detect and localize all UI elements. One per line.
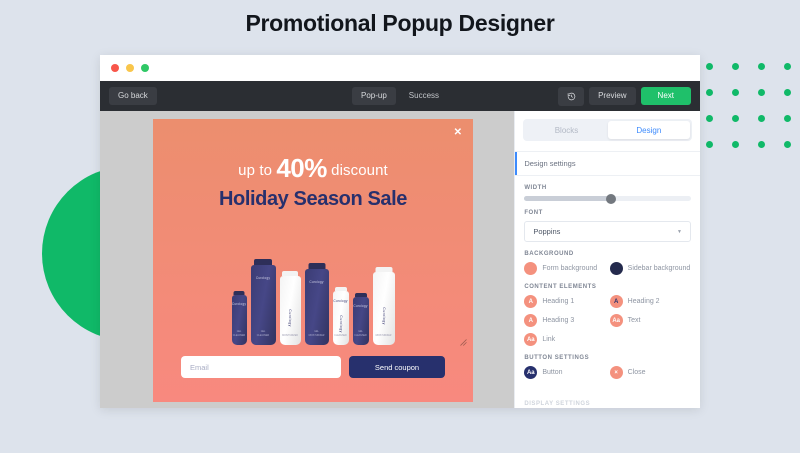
design-panel: Blocks Design Design settings WIDTH FONT… bbox=[514, 111, 700, 408]
panel-segmented-control: Blocks Design bbox=[523, 119, 692, 141]
design-settings-row[interactable]: Design settings bbox=[515, 151, 700, 176]
tab-design[interactable]: Design bbox=[608, 121, 690, 139]
tab-blocks[interactable]: Blocks bbox=[525, 121, 607, 139]
width-section-label: WIDTH bbox=[524, 185, 700, 191]
content-elements-section-label: CONTENT ELEMENTS bbox=[524, 284, 700, 290]
option-heading-2[interactable]: A Heading 2 bbox=[610, 295, 691, 308]
product-shelf-image: CurologyGELCLEANSERCurologyGELCLEANSERCu… bbox=[153, 223, 473, 345]
resize-handle-icon[interactable] bbox=[460, 339, 467, 346]
product-sub-label: MOISTURIZER bbox=[280, 335, 301, 338]
product-sub-label: CLEANSER bbox=[333, 335, 349, 338]
next-button[interactable]: Next bbox=[641, 87, 691, 105]
product-cap bbox=[234, 291, 245, 295]
content-elements-options: A Heading 1 A Heading 2 A Heading 3 Aa T… bbox=[524, 295, 691, 346]
grid-dot bbox=[784, 63, 791, 70]
option-heading-3[interactable]: A Heading 3 bbox=[524, 314, 605, 327]
option-label: Text bbox=[628, 317, 641, 324]
grid-dot bbox=[732, 115, 739, 122]
option-label: Form background bbox=[542, 265, 597, 272]
background-section-label: BACKGROUND bbox=[524, 251, 700, 257]
preview-button[interactable]: Preview bbox=[589, 87, 635, 105]
option-label: Button bbox=[542, 369, 562, 376]
option-close[interactable]: × Close bbox=[610, 366, 691, 379]
grid-dot bbox=[706, 141, 713, 148]
option-label: Sidebar background bbox=[628, 265, 691, 272]
product-bottle: CurologyGELCLEANSER bbox=[251, 259, 276, 345]
editor-body: ✕ up to 40% discount Holiday Season Sale… bbox=[100, 111, 700, 408]
promotional-popup: ✕ up to 40% discount Holiday Season Sale… bbox=[153, 119, 473, 402]
product-brand-label: Curology bbox=[288, 309, 292, 327]
product-brand-label: Curology bbox=[232, 302, 247, 306]
font-select[interactable]: Poppins ▼ bbox=[524, 221, 691, 242]
history-clock-icon bbox=[567, 92, 576, 101]
product-brand-label: Curology bbox=[382, 308, 386, 326]
product-body: CurologyGELCLEANSER bbox=[251, 265, 276, 345]
tab-success[interactable]: Success bbox=[400, 87, 448, 105]
popup-heading: Holiday Season Sale bbox=[153, 188, 473, 211]
grid-dot bbox=[758, 63, 765, 70]
product-sub-label: GELMOISTURIZER bbox=[305, 331, 329, 338]
product-cap bbox=[375, 267, 392, 272]
product-bottle: CurologyMOISTURIZER bbox=[373, 267, 395, 345]
option-sidebar-background[interactable]: Sidebar background bbox=[610, 262, 691, 275]
email-input[interactable]: Email bbox=[181, 356, 341, 378]
width-slider-thumb[interactable] bbox=[606, 194, 616, 204]
option-heading-1[interactable]: A Heading 1 bbox=[524, 295, 605, 308]
product-bottle: CurologyGELCLEANSER bbox=[232, 291, 247, 345]
browser-window: Go back Pop-up Success Preview Next ✕ up… bbox=[100, 55, 700, 408]
product-brand-label: Curology bbox=[353, 304, 369, 308]
product-cap bbox=[355, 293, 367, 297]
background-options: Form background Sidebar background bbox=[524, 262, 691, 275]
editor-toolbar: Go back Pop-up Success Preview Next bbox=[100, 81, 700, 111]
grid-dot bbox=[758, 115, 765, 122]
heading-3-swatch-icon: A bbox=[524, 314, 537, 327]
product-bottle: CurologyGELCLEANSER bbox=[353, 293, 369, 345]
history-button[interactable] bbox=[558, 87, 584, 106]
text-swatch-icon: Aa bbox=[610, 314, 623, 327]
product-sub-label: GELCLEANSER bbox=[232, 331, 247, 338]
cut-off-section-label: DISPLAY SETTINGS bbox=[524, 401, 590, 407]
product-brand-label-vertical: Curology bbox=[339, 316, 343, 334]
toolbar-actions: Preview Next bbox=[558, 87, 691, 106]
maximize-window-dot[interactable] bbox=[141, 64, 149, 72]
sidebar-background-swatch-icon bbox=[610, 262, 623, 275]
product-cap bbox=[335, 287, 347, 291]
grid-dot bbox=[784, 115, 791, 122]
popup-eyebrow: up to 40% discount bbox=[153, 153, 473, 184]
grid-dot bbox=[784, 141, 791, 148]
popup-eyebrow-suffix: discount bbox=[331, 162, 388, 179]
grid-dot bbox=[706, 63, 713, 70]
grid-dot bbox=[732, 63, 739, 70]
option-label: Close bbox=[628, 369, 646, 376]
option-form-background[interactable]: Form background bbox=[524, 262, 605, 275]
link-swatch-icon: Aa bbox=[524, 333, 537, 346]
dot-grid-decoration bbox=[706, 63, 800, 167]
option-label: Heading 2 bbox=[628, 298, 660, 305]
popup-canvas: ✕ up to 40% discount Holiday Season Sale… bbox=[100, 111, 514, 408]
product-body: CurologyGELCLEANSER bbox=[232, 295, 247, 345]
grid-dot bbox=[732, 89, 739, 96]
width-slider-fill bbox=[524, 196, 611, 201]
grid-dot bbox=[758, 89, 765, 96]
option-label: Heading 3 bbox=[542, 317, 574, 324]
product-sub-label: MOISTURIZER bbox=[373, 335, 395, 338]
go-back-button[interactable]: Go back bbox=[109, 87, 157, 105]
grid-dot bbox=[732, 141, 739, 148]
send-coupon-button[interactable]: Send coupon bbox=[349, 356, 445, 378]
option-link[interactable]: Aa Link bbox=[524, 333, 605, 346]
product-sub-label: GELCLEANSER bbox=[251, 331, 276, 338]
button-swatch-icon: Aa bbox=[524, 366, 537, 379]
width-slider[interactable] bbox=[524, 196, 691, 201]
product-body: CurologyMOISTURIZER bbox=[373, 272, 395, 345]
product-bottle: CurologyGELMOISTURIZER bbox=[305, 263, 329, 345]
chevron-down-icon: ▼ bbox=[677, 229, 682, 235]
heading-2-swatch-icon: A bbox=[610, 295, 623, 308]
product-body: CurologyGELMOISTURIZER bbox=[305, 269, 329, 345]
option-label: Link bbox=[542, 336, 555, 343]
close-window-dot[interactable] bbox=[111, 64, 119, 72]
popup-close-icon[interactable]: ✕ bbox=[454, 128, 462, 138]
page-title: Promotional Popup Designer bbox=[0, 10, 800, 37]
font-select-value: Poppins bbox=[533, 227, 560, 236]
window-titlebar bbox=[100, 55, 700, 81]
product-cap bbox=[254, 259, 272, 265]
option-button[interactable]: Aa Button bbox=[524, 366, 605, 379]
grid-dot bbox=[784, 89, 791, 96]
popup-eyebrow-prefix: up to bbox=[238, 162, 272, 179]
form-background-swatch-icon bbox=[524, 262, 537, 275]
product-bottle: CurologyMOISTURIZER bbox=[280, 271, 301, 345]
product-brand-label: Curology bbox=[305, 280, 329, 284]
minimize-window-dot[interactable] bbox=[126, 64, 134, 72]
option-label: Heading 1 bbox=[542, 298, 574, 305]
product-body: CurologyCurologyCLEANSER bbox=[333, 291, 349, 345]
heading-1-swatch-icon: A bbox=[524, 295, 537, 308]
tab-popup[interactable]: Pop-up bbox=[352, 87, 396, 105]
button-settings-options: Aa Button × Close bbox=[524, 366, 691, 379]
grid-dot bbox=[758, 141, 765, 148]
close-swatch-icon: × bbox=[610, 366, 623, 379]
button-settings-section-label: BUTTON SETTINGS bbox=[524, 355, 700, 361]
grid-dot bbox=[706, 89, 713, 96]
option-text[interactable]: Aa Text bbox=[610, 314, 691, 327]
popup-discount-value: 40% bbox=[276, 153, 327, 183]
product-bottle: CurologyCurologyCLEANSER bbox=[333, 287, 349, 345]
product-sub-label: GELCLEANSER bbox=[353, 331, 369, 338]
product-brand-label: Curology bbox=[333, 299, 349, 303]
product-body: CurologyMOISTURIZER bbox=[280, 276, 301, 345]
font-section-label: FONT bbox=[524, 210, 700, 216]
popup-signup-form: Email Send coupon bbox=[181, 356, 445, 378]
product-cap bbox=[282, 271, 298, 276]
product-body: CurologyGELCLEANSER bbox=[353, 297, 369, 345]
grid-dot bbox=[706, 115, 713, 122]
product-brand-label: Curology bbox=[251, 276, 276, 280]
product-cap bbox=[308, 263, 325, 269]
